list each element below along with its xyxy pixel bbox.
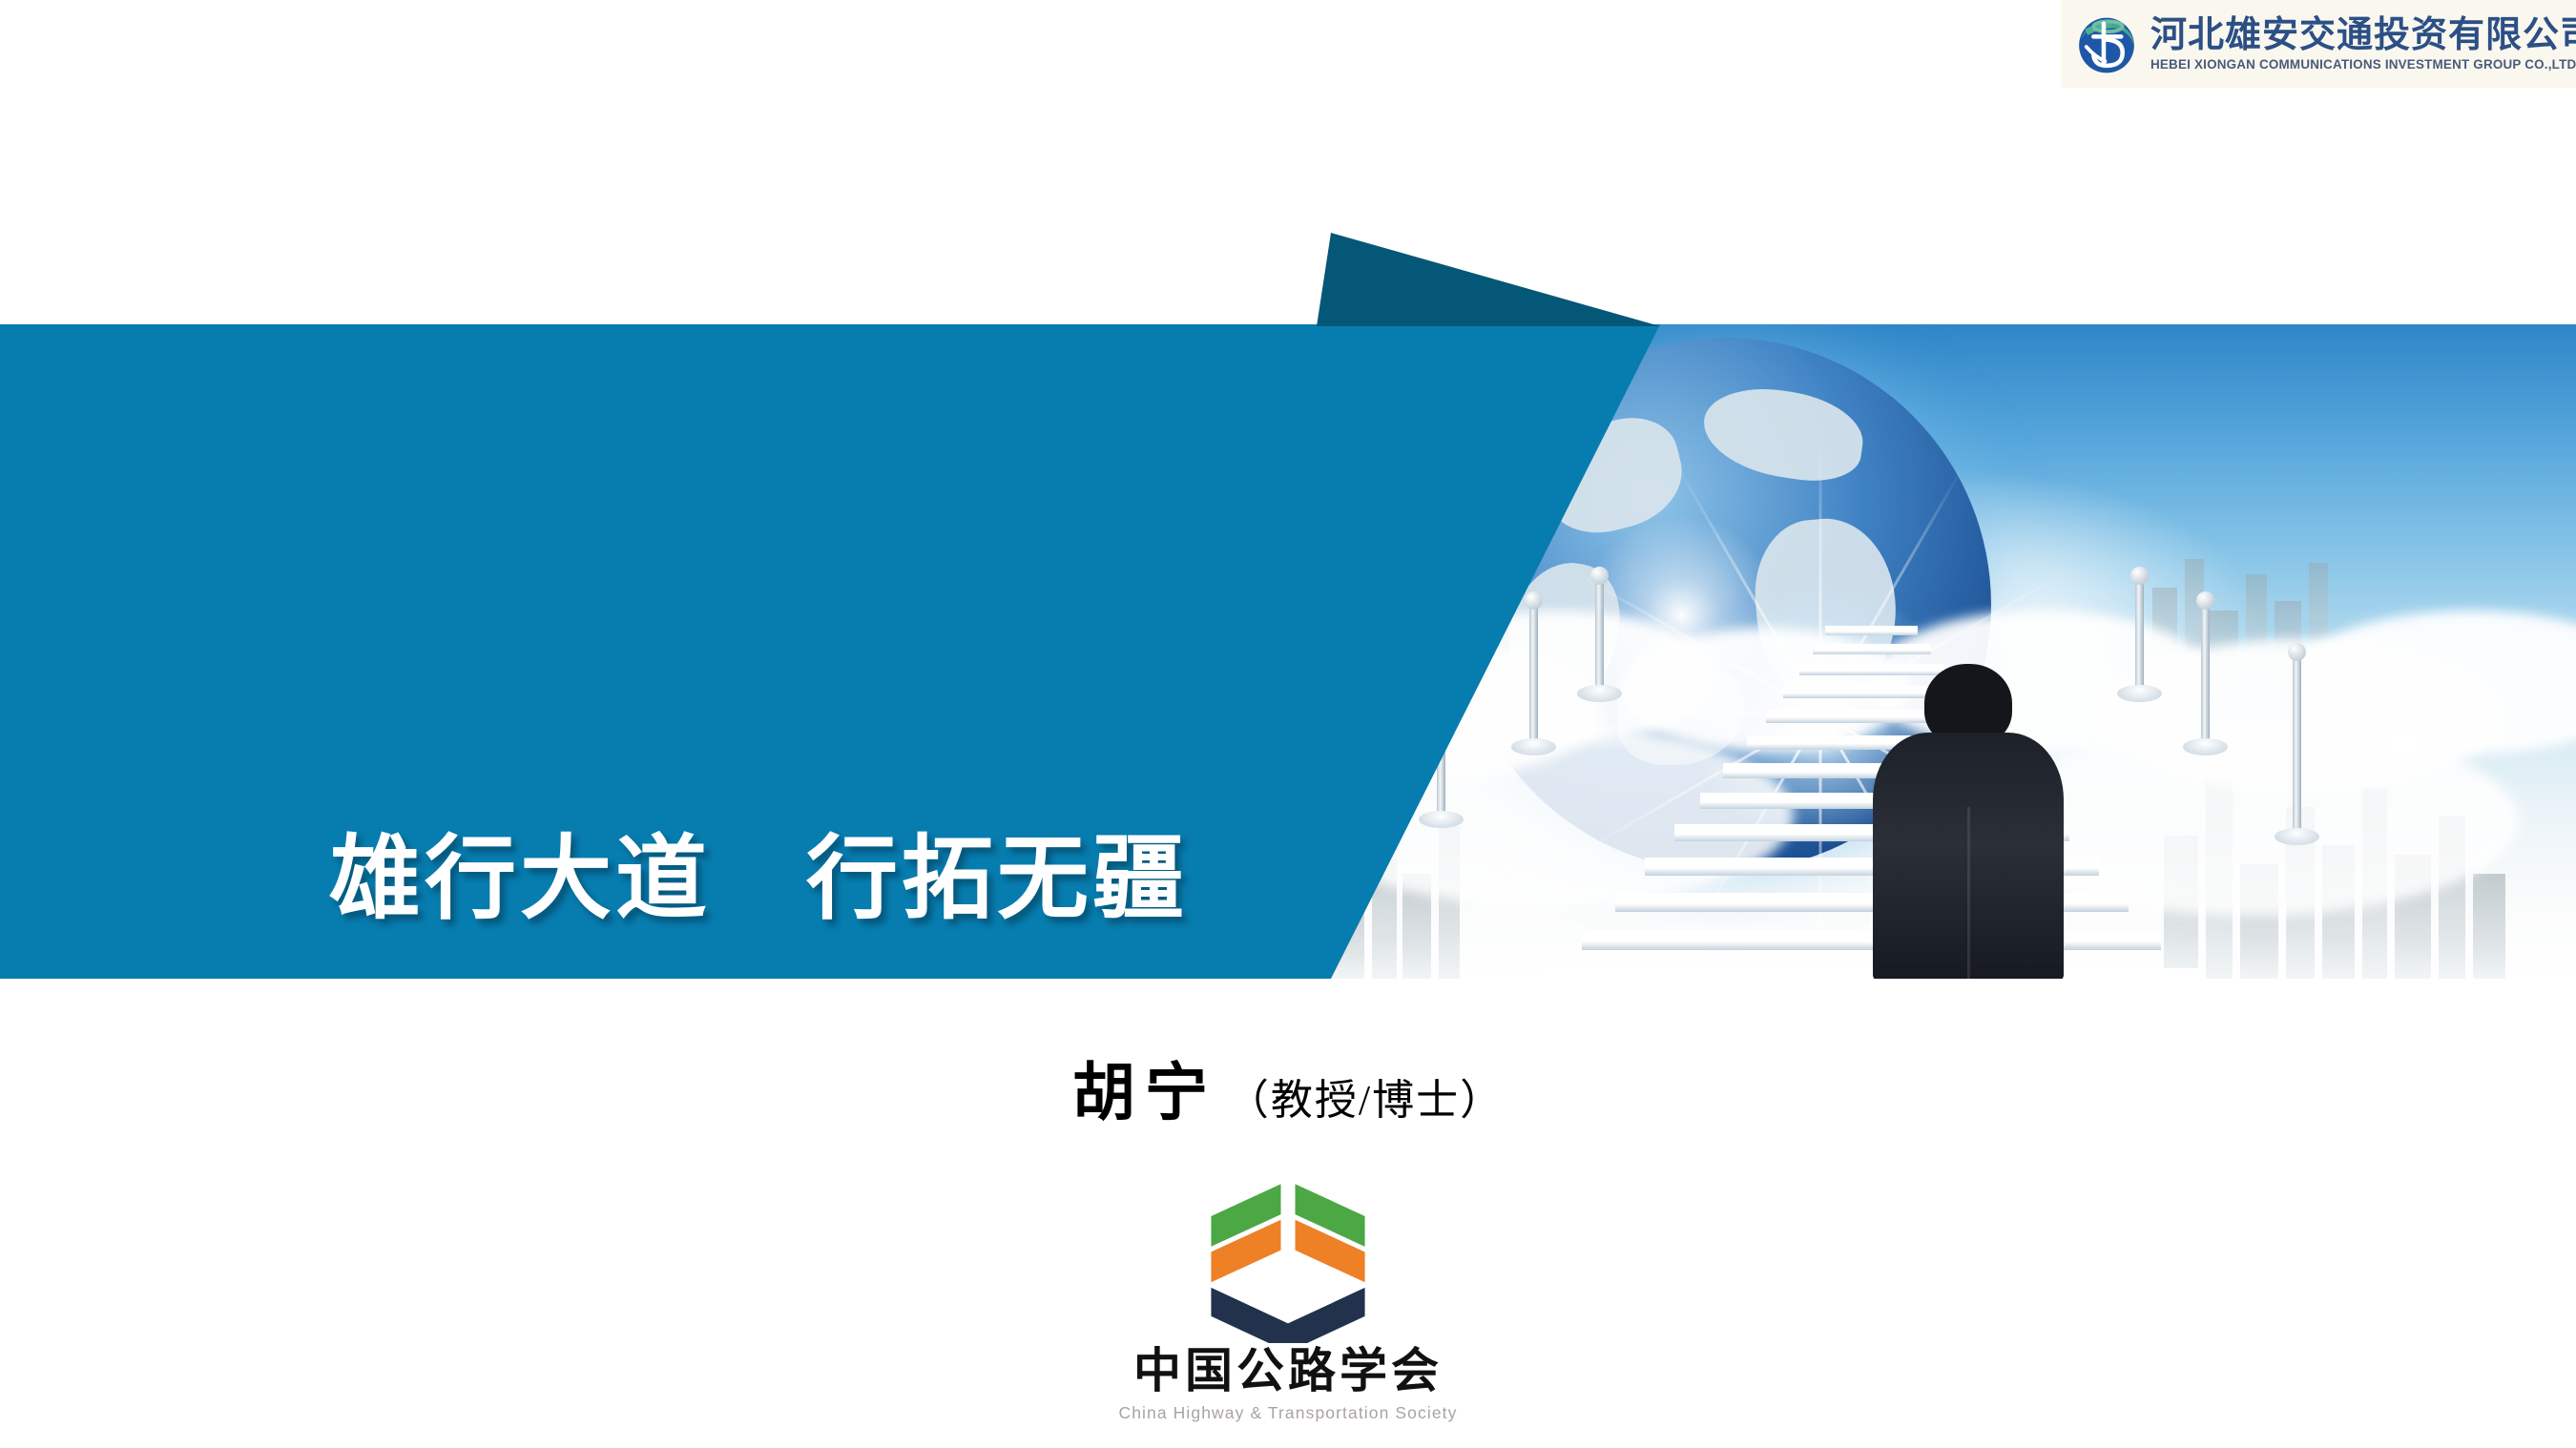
lamp-post-icon [2201, 603, 2210, 746]
society-name-cn: 中国公路学会 [1133, 1347, 1443, 1395]
lamp-post-icon [2135, 578, 2144, 693]
corporate-logo-text: 河北雄安交通投资有限公司 HEBEI XIONGAN COMMUNICATION… [2150, 13, 2576, 74]
lamp-post-icon [2293, 654, 2301, 836]
hexagon-chevron-icon [1197, 1173, 1379, 1343]
businessman-icon [1859, 664, 2078, 979]
corporate-logo-name-cn: 河北雄安交通投资有限公司 [2150, 17, 2576, 55]
society-logo: 中国公路学会 China Highway & Transportation So… [0, 1173, 2576, 1423]
xiongan-globe-emblem-icon [2070, 8, 2143, 80]
presenter-name: 胡宁 [1072, 1059, 1217, 1128]
page-title: 雄行大道 行拓无疆 [329, 822, 1188, 937]
lamp-post-icon [1529, 603, 1538, 746]
corporate-logo-name-en: HEBEI XIONGAN COMMUNICATIONS INVESTMENT … [2150, 55, 2576, 74]
hero-accent-wedge [1317, 227, 1670, 326]
presentation-slide: 河北雄安交通投资有限公司 HEBEI XIONGAN COMMUNICATION… [0, 0, 2576, 1448]
society-name-en: China Highway & Transportation Society [1118, 1403, 1457, 1423]
presenter-line: 胡宁（教授/博士） [0, 1042, 2576, 1133]
lamp-post-icon [1595, 578, 1604, 693]
presenter-credentials: （教授/博士） [1227, 1077, 1504, 1124]
hero-banner: 雄行大道 行拓无疆 ——雄安交投企业文化品牌解读与落地实施 [0, 324, 2576, 979]
corporate-logo: 河北雄安交通投资有限公司 HEBEI XIONGAN COMMUNICATION… [2061, 0, 2576, 88]
